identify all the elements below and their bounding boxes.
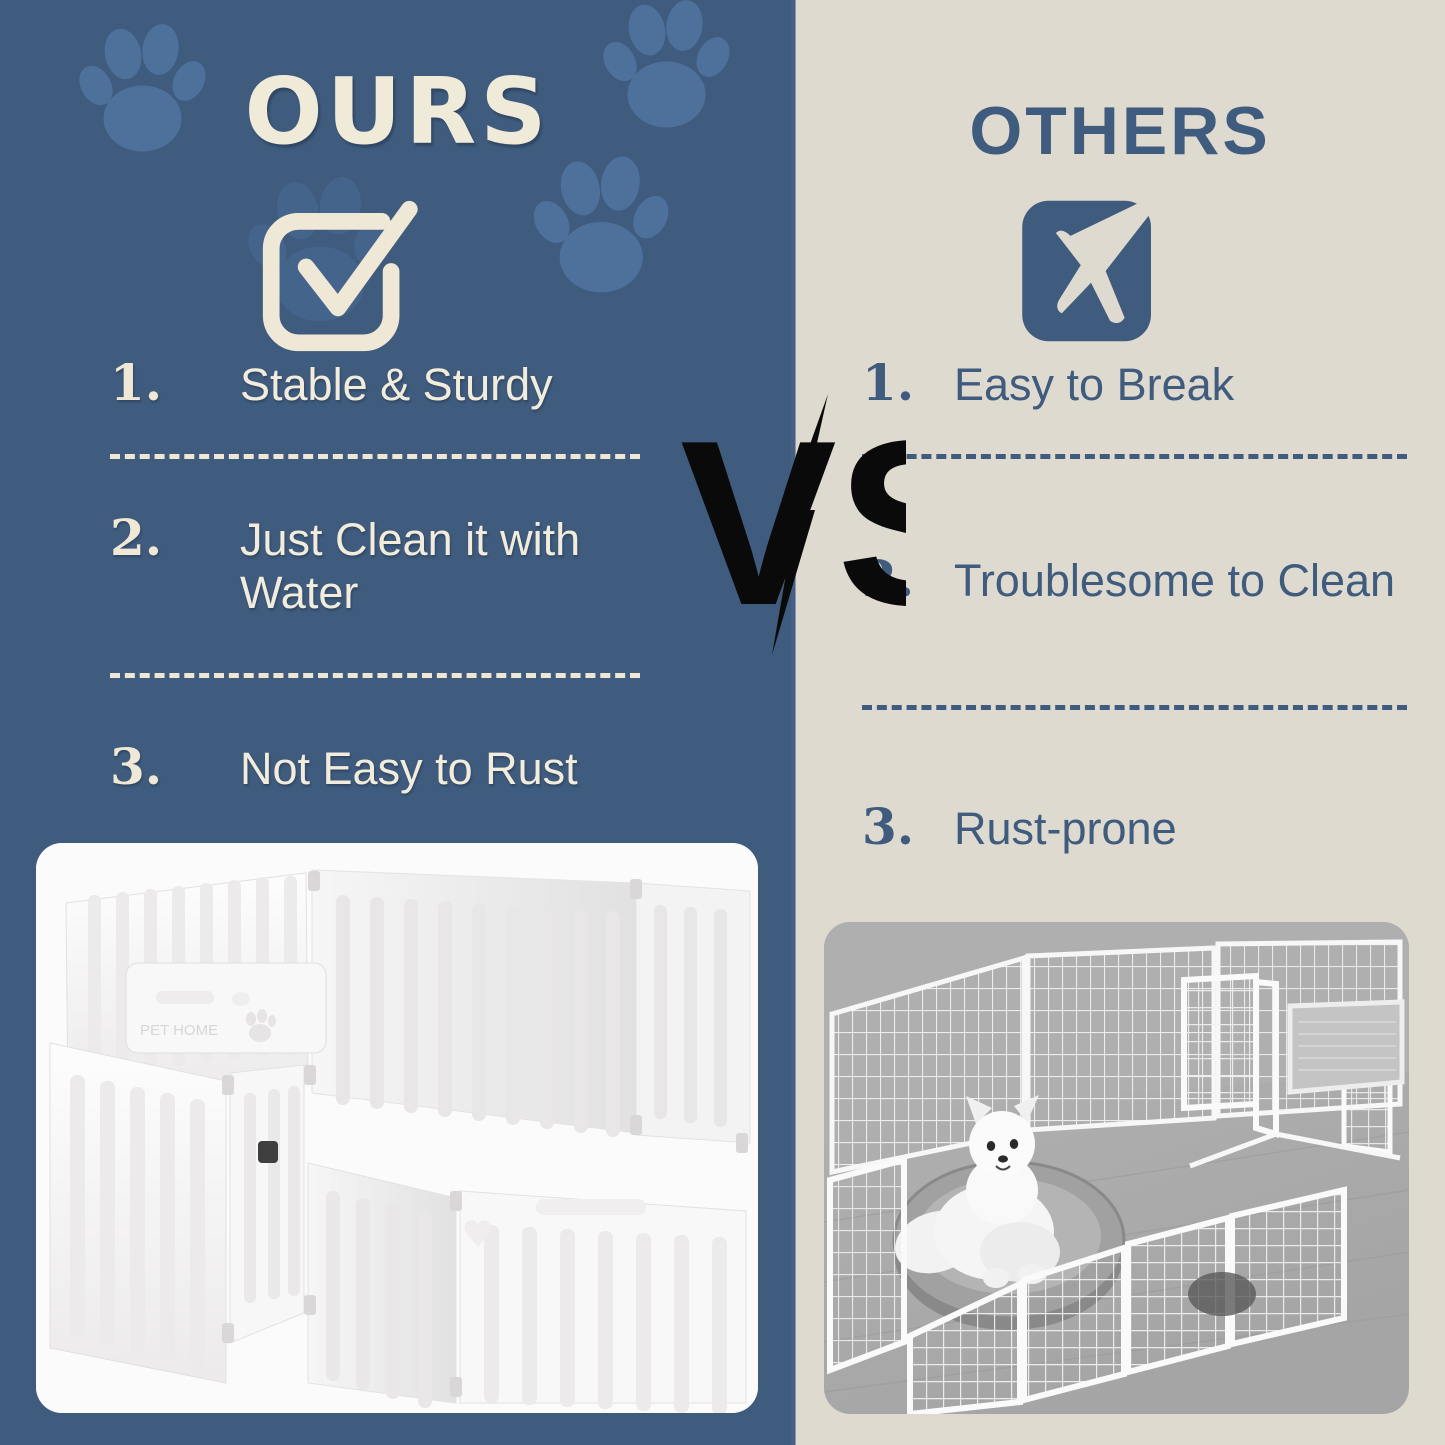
list-item: 2. Just Clean it with Water [110, 513, 640, 673]
list-item-number: 2. [110, 513, 240, 563]
ours-product-photo: PET HOME [36, 843, 758, 1413]
list-item-label: Easy to Break [954, 358, 1407, 411]
comparison-infographic: OURS OTHERS 1. Stable & Sturdy 2. Just C… [0, 0, 1445, 1445]
others-title: OTHERS [795, 92, 1445, 170]
paw-print-icon [526, 150, 686, 310]
list-item-number: 2. [862, 554, 954, 604]
list-separator [110, 454, 640, 459]
others-product-photo [824, 922, 1409, 1414]
panel-divider [791, 0, 796, 1445]
list-separator [110, 673, 640, 678]
others-feature-list: 1. Easy to Break 2. Troublesome to Clean… [862, 358, 1407, 951]
list-item-number: 3. [110, 742, 240, 792]
list-item: 2. Troublesome to Clean [862, 554, 1407, 650]
ours-feature-list: 1. Stable & Sturdy 2. Just Clean it with… [110, 358, 640, 889]
list-item-label: Not Easy to Rust [240, 742, 640, 795]
svg-text:PET HOME: PET HOME [140, 1022, 218, 1039]
list-separator [862, 705, 1407, 710]
list-item-label: Stable & Sturdy [240, 358, 640, 411]
list-item-number: 1. [862, 358, 954, 408]
ours-title: OURS [0, 58, 795, 165]
list-item: 3. Not Easy to Rust [110, 742, 640, 838]
list-item: 3. Rust-prone [862, 802, 1407, 898]
list-separator [862, 454, 1407, 459]
x-mark-icon [1017, 192, 1165, 350]
list-item-number: 3. [862, 802, 954, 852]
list-item: 1. Stable & Sturdy [110, 358, 640, 454]
list-item-label: Rust-prone [954, 802, 1407, 855]
list-item-number: 1. [110, 358, 240, 408]
checkbox-check-icon [247, 188, 432, 358]
list-item: 1. Easy to Break [862, 358, 1407, 454]
list-item-label: Troublesome to Clean [954, 554, 1407, 607]
list-item-label: Just Clean it with Water [240, 513, 640, 619]
